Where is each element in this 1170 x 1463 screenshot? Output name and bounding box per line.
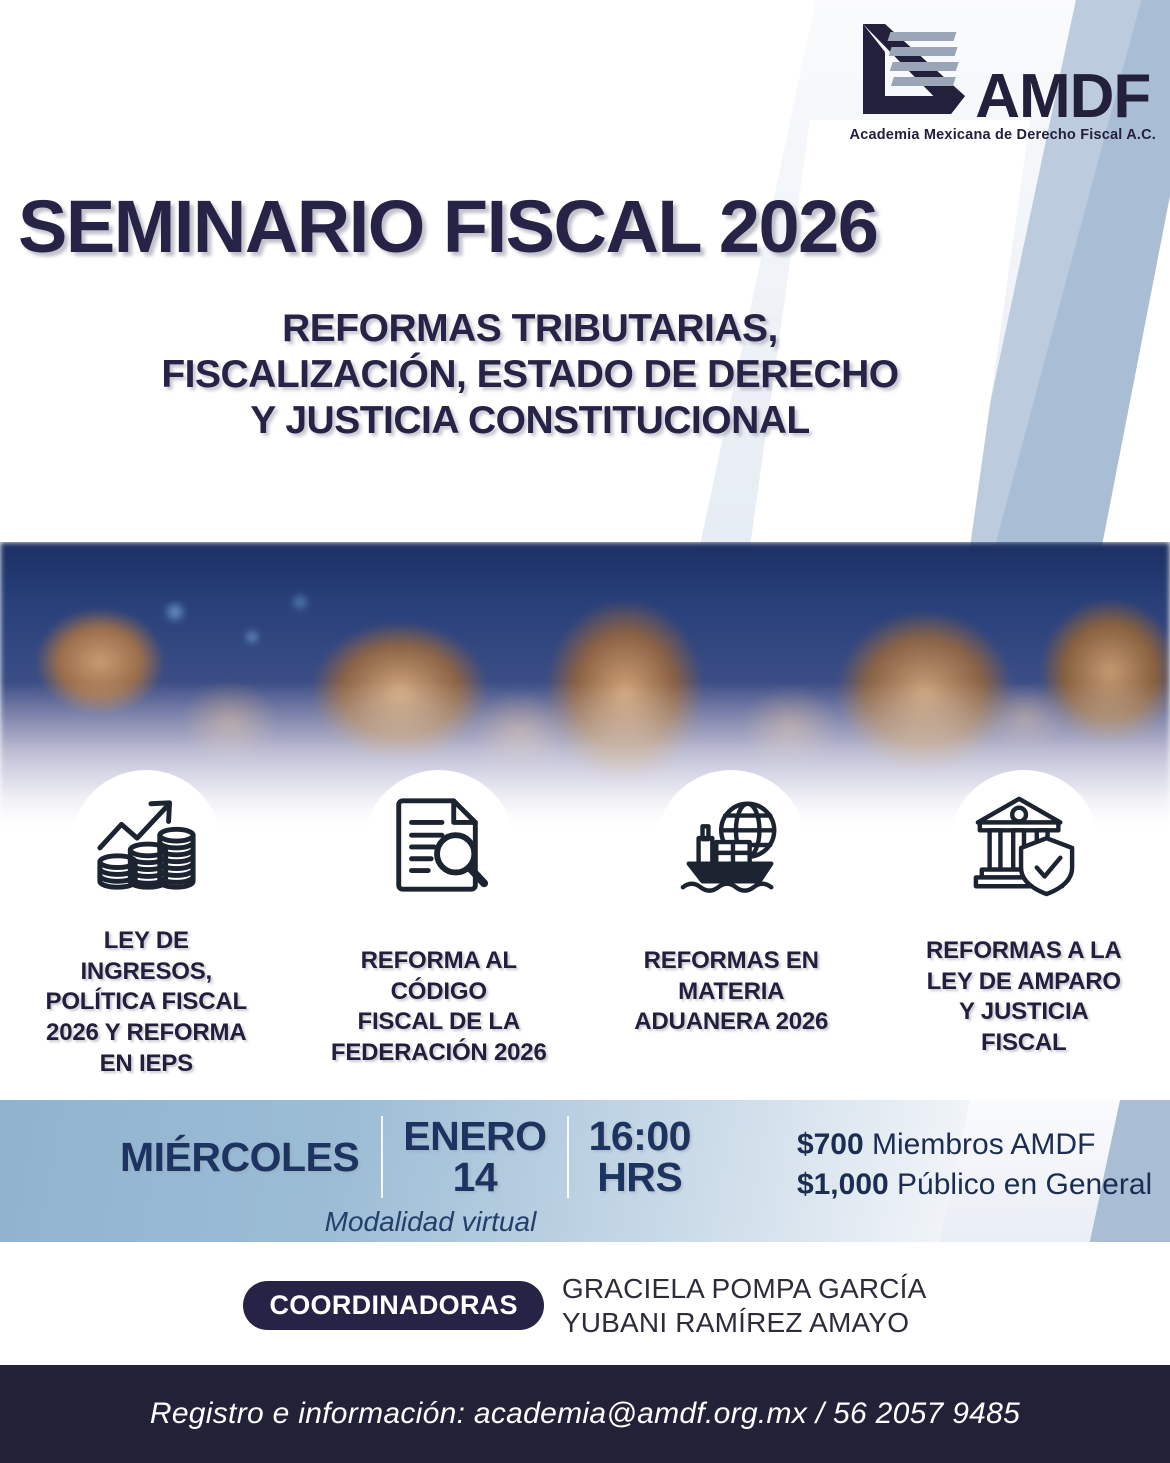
topic-label-line: INGRESOS, xyxy=(46,957,247,988)
event-time-value: 16:00 xyxy=(589,1116,691,1157)
price-amount: $700 xyxy=(797,1128,864,1161)
topic-label: REFORMA AL CÓDIGO FISCAL DE LA FEDERACIÓ… xyxy=(331,946,547,1069)
topic-label-line: 2026 Y REFORMA xyxy=(46,1018,247,1049)
logo-row: AMDF xyxy=(855,18,1150,125)
coordinator-name-1: GRACIELA POMPA GARCÍA xyxy=(562,1272,927,1306)
price-item: $700 Miembros AMDF xyxy=(797,1128,1152,1162)
cargo-ship-globe-icon xyxy=(677,791,785,899)
topic-label-line: REFORMAS A LA xyxy=(926,936,1122,967)
date-divider xyxy=(381,1116,383,1198)
amdf-logo: AMDF Academia Mexicana de Derecho Fiscal… xyxy=(850,18,1156,143)
topic-label-line: ADUANERA 2026 xyxy=(634,1007,828,1038)
subtitle-line-1: REFORMAS TRIBUTARIAS, xyxy=(0,306,1060,352)
event-day: 14 xyxy=(453,1157,498,1198)
event-weekday: MIÉRCOLES xyxy=(120,1134,381,1181)
event-month: ENERO xyxy=(403,1116,546,1157)
event-time-unit: HRS xyxy=(597,1157,682,1198)
coordinators-names: GRACIELA POMPA GARCÍA YUBANI RAMÍREZ AMA… xyxy=(562,1272,927,1339)
topic-label-line: Y JUSTICIA xyxy=(926,997,1122,1028)
topic-label-line: LEY DE AMPARO xyxy=(926,967,1122,998)
topic-icon-circle xyxy=(71,770,221,920)
topic-item: REFORMAS EN MATERIA ADUANERA 2026 xyxy=(599,770,864,1038)
event-date-row: MIÉRCOLES ENERO 14 16:00 HRS xyxy=(120,1116,711,1198)
coordinators-badge: COORDINADORAS xyxy=(243,1281,543,1330)
topic-item: REFORMA AL CÓDIGO FISCAL DE LA FEDERACIÓ… xyxy=(306,770,571,1069)
topic-item: REFORMAS A LA LEY DE AMPARO Y JUSTICIA F… xyxy=(891,770,1156,1059)
logo-subtitle: Academia Mexicana de Derecho Fiscal A.C. xyxy=(850,127,1156,143)
topic-label-line: FISCAL DE LA xyxy=(331,1007,547,1038)
topic-label: LEY DE INGRESOS, POLÍTICA FISCAL 2026 Y … xyxy=(46,926,247,1080)
event-info-band: MIÉRCOLES ENERO 14 16:00 HRS Modalidad v… xyxy=(0,1100,1170,1242)
event-date: ENERO 14 xyxy=(383,1116,566,1198)
event-modality: Modalidad virtual xyxy=(295,1206,537,1238)
document-magnifier-icon xyxy=(385,791,493,899)
price-audience: Miembros AMDF xyxy=(872,1128,1095,1161)
topic-label-line: LEY DE xyxy=(46,926,247,957)
pricing-list: $700 Miembros AMDF $1,000 Público en Gen… xyxy=(797,1100,1152,1202)
coordinators-section: COORDINADORAS GRACIELA POMPA GARCÍA YUBA… xyxy=(0,1272,1170,1339)
subtitle-line-3: Y JUSTICIA CONSTITUCIONAL xyxy=(0,398,1060,444)
registration-info[interactable]: Registro e información: academia@amdf.or… xyxy=(150,1397,1020,1431)
footer-bar: Registro e información: academia@amdf.or… xyxy=(0,1365,1170,1463)
topic-label-line: POLÍTICA FISCAL xyxy=(46,987,247,1018)
topic-icon-circle xyxy=(364,770,514,920)
coordinator-name-2: YUBANI RAMÍREZ AMAYO xyxy=(562,1306,927,1340)
page-title: SEMINARIO FISCAL 2026 xyxy=(0,190,1170,264)
subtitle-line-2: FISCALIZACIÓN, ESTADO DE DERECHO xyxy=(0,352,1060,398)
event-time: 16:00 HRS xyxy=(569,1116,711,1198)
topic-item: LEY DE INGRESOS, POLÍTICA FISCAL 2026 Y … xyxy=(14,770,279,1080)
topic-label-line: REFORMAS EN xyxy=(634,946,828,977)
topic-label-line: REFORMA AL xyxy=(331,946,547,977)
topic-label-line: FISCAL xyxy=(926,1028,1122,1059)
price-amount: $1,000 xyxy=(797,1168,889,1201)
topic-label-line: FEDERACIÓN 2026 xyxy=(331,1038,547,1069)
time-divider xyxy=(567,1116,569,1198)
price-item: $1,000 Público en General xyxy=(797,1168,1152,1202)
page-subtitle: REFORMAS TRIBUTARIAS, FISCALIZACIÓN, EST… xyxy=(0,306,1170,444)
topic-label-line: MATERIA xyxy=(634,977,828,1008)
price-audience: Público en General xyxy=(897,1168,1152,1201)
topic-icon-circle xyxy=(949,770,1099,920)
topic-label-line: CÓDIGO xyxy=(331,977,547,1008)
topics-list: LEY DE INGRESOS, POLÍTICA FISCAL 2026 Y … xyxy=(0,770,1170,1080)
logo-wordmark: AMDF xyxy=(975,72,1150,123)
courthouse-shield-icon xyxy=(970,791,1078,899)
growth-chart-coins-icon xyxy=(92,791,200,899)
poster-root: AMDF Academia Mexicana de Derecho Fiscal… xyxy=(0,0,1170,1463)
event-date-group: MIÉRCOLES ENERO 14 16:00 HRS Modalidad v… xyxy=(120,1100,711,1238)
topic-icon-circle xyxy=(656,770,806,920)
topic-label: REFORMAS EN MATERIA ADUANERA 2026 xyxy=(634,946,828,1038)
topic-label-line: EN IEPS xyxy=(46,1049,247,1080)
topic-label: REFORMAS A LA LEY DE AMPARO Y JUSTICIA F… xyxy=(926,936,1122,1059)
